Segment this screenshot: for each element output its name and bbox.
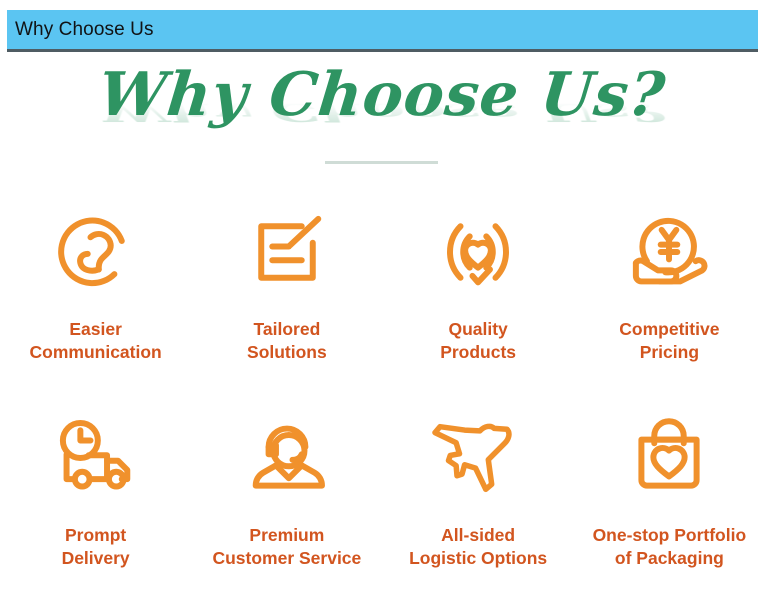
feature-label: Premium Customer Service bbox=[212, 524, 361, 570]
feature-premium-customer-service[interactable]: Premium Customer Service bbox=[191, 402, 382, 594]
document-pencil-icon bbox=[235, 200, 339, 304]
feature-label: Competitive Pricing bbox=[619, 318, 719, 364]
title-divider bbox=[325, 161, 438, 164]
headset-agent-icon bbox=[235, 406, 339, 510]
feature-tailored-solutions[interactable]: Tailored Solutions bbox=[191, 196, 382, 388]
heart-signal-check-icon bbox=[426, 200, 530, 304]
window-header: Why Choose Us bbox=[7, 10, 758, 52]
feature-all-sided-logistic-options[interactable]: All-sided Logistic Options bbox=[383, 402, 574, 594]
feature-one-stop-portfolio-of-packaging[interactable]: One-stop Portfolio of Packaging bbox=[574, 402, 765, 594]
feature-grid: Easier Communication Tailored Solutions bbox=[0, 196, 765, 594]
feature-prompt-delivery[interactable]: Prompt Delivery bbox=[0, 402, 191, 594]
feature-label: Prompt Delivery bbox=[62, 524, 130, 570]
why-choose-us-page: Why Choose Us Why Choose Us? Why Choose … bbox=[0, 0, 765, 599]
truck-clock-icon bbox=[44, 406, 148, 510]
feature-label: One-stop Portfolio of Packaging bbox=[593, 524, 747, 570]
window-title: Why Choose Us bbox=[15, 19, 154, 41]
feature-label: Quality Products bbox=[440, 318, 516, 364]
hand-yen-coin-icon bbox=[617, 200, 721, 304]
feature-label: Easier Communication bbox=[30, 318, 162, 364]
ear-listening-icon bbox=[44, 200, 148, 304]
feature-label: All-sided Logistic Options bbox=[409, 524, 547, 570]
feature-easier-communication[interactable]: Easier Communication bbox=[0, 196, 191, 388]
hero-banner: Why Choose Us? bbox=[0, 62, 765, 162]
page-title: Why Choose Us? bbox=[96, 62, 669, 128]
feature-quality-products[interactable]: Quality Products bbox=[383, 196, 574, 388]
feature-label: Tailored Solutions bbox=[247, 318, 327, 364]
feature-competitive-pricing[interactable]: Competitive Pricing bbox=[574, 196, 765, 388]
airplane-icon bbox=[426, 406, 530, 510]
shopping-bag-heart-icon bbox=[617, 406, 721, 510]
